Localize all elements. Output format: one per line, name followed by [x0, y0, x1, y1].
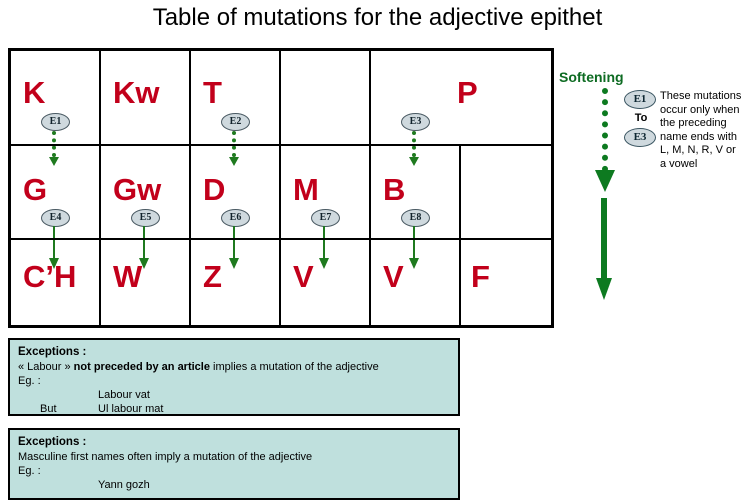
cell-letter: B — [383, 174, 405, 205]
table-row: C’H W Z V V F — [11, 238, 551, 325]
cell-letter: G — [23, 174, 47, 205]
table-cell[interactable]: F — [461, 240, 551, 325]
exception-eg-label: Eg. : — [18, 464, 450, 478]
table-cell[interactable]: B E8 — [371, 146, 461, 238]
table-cell[interactable]: C’H — [11, 240, 101, 325]
mutation-table: K E1 Kw T E2 P E3 G E4 Gw E5 — [8, 48, 554, 328]
mutation-tag-e6: E6 — [221, 209, 250, 227]
legend-tag-from: E1 — [624, 90, 656, 109]
cell-letter: W — [113, 261, 142, 292]
legend-line: L, M, N, R, V or — [660, 144, 755, 158]
exception-rule: Masculine first names often imply a muta… — [18, 450, 450, 464]
legend-line: the preceding — [660, 117, 755, 131]
exception-example-value: Labour vat — [98, 388, 150, 402]
exception-heading: Exceptions : — [18, 435, 450, 449]
exception-box: Exceptions : « Labour » not preceded by … — [8, 338, 460, 416]
cell-letter: F — [471, 261, 490, 292]
exception-heading: Exceptions : — [18, 345, 450, 359]
table-cell[interactable]: M E7 — [281, 146, 371, 238]
mutation-tag-e1: E1 — [41, 113, 70, 131]
exception-eg-label: Eg. : — [18, 374, 450, 388]
table-cell[interactable]: Kw — [101, 51, 191, 144]
table-cell[interactable]: Z — [191, 240, 281, 325]
cell-letter: D — [203, 174, 225, 205]
legend-connector: To — [624, 112, 658, 125]
softening-label: Softening — [559, 69, 624, 85]
cell-letter: M — [293, 174, 319, 205]
softening-solid-arrow-icon — [601, 198, 611, 302]
legend-line: a vowel — [660, 158, 755, 172]
cell-letter: Gw — [113, 174, 161, 205]
cell-letter: K — [23, 77, 45, 108]
cell-letter: P — [457, 77, 478, 108]
table-row: G E4 Gw E5 D E6 M E7 B E8 — [11, 144, 551, 238]
exception-example-value: Ul labour mat — [98, 402, 163, 416]
legend-line: name ends with — [660, 131, 755, 145]
exception-example-label — [18, 478, 98, 492]
legend-line: These mutations — [660, 90, 755, 104]
table-cell[interactable]: Gw E5 — [101, 146, 191, 238]
exception-example: Yann gozh — [18, 478, 450, 492]
mutation-tag-e8: E8 — [401, 209, 430, 227]
cell-letter: V — [383, 261, 404, 292]
exception-box: Exceptions : Masculine first names often… — [8, 428, 460, 500]
cell-letter: T — [203, 77, 222, 108]
cell-letter: Kw — [113, 77, 160, 108]
exception-rule-bold: not preceded by an article — [74, 361, 210, 373]
table-cell[interactable]: G E4 — [11, 146, 101, 238]
exception-example-label — [18, 388, 98, 402]
cell-letter: V — [293, 261, 314, 292]
cell-letter: Z — [203, 261, 222, 292]
table-row: K E1 Kw T E2 P E3 — [11, 51, 551, 144]
mutation-tag-e4: E4 — [41, 209, 70, 227]
table-cell[interactable]: W — [101, 240, 191, 325]
table-cell[interactable] — [461, 146, 551, 238]
exception-example: But Ul labour mat — [18, 402, 450, 416]
exception-example-label: But — [18, 402, 98, 416]
softening-dotted-arrow-icon — [602, 88, 610, 194]
table-cell[interactable] — [281, 51, 371, 144]
exception-example: Labour vat — [18, 388, 450, 402]
page-title: Table of mutations for the adjective epi… — [0, 4, 755, 32]
table-cell[interactable]: P E3 — [371, 51, 551, 144]
legend-tag-to: E3 — [624, 128, 656, 147]
exception-rule-pre: Masculine first names often imply a muta… — [18, 451, 312, 463]
legend-line: occur only when — [660, 104, 755, 118]
mutation-tag-e7: E7 — [311, 209, 340, 227]
table-cell[interactable]: V — [371, 240, 461, 325]
mutation-tag-e2: E2 — [221, 113, 250, 131]
legend-keys: E1 To E3 — [624, 90, 658, 150]
table-cell[interactable]: K E1 — [11, 51, 101, 144]
exception-rule-post: implies a mutation of the adjective — [210, 361, 379, 373]
table-cell[interactable]: T E2 — [191, 51, 281, 144]
table-cell[interactable]: V — [281, 240, 371, 325]
exception-rule-pre: « Labour » — [18, 361, 74, 373]
mutation-tag-e3: E3 — [401, 113, 430, 131]
exception-example-value: Yann gozh — [98, 478, 150, 492]
legend-text: These mutations occur only when the prec… — [660, 90, 755, 171]
mutation-tag-e5: E5 — [131, 209, 160, 227]
exception-rule: « Labour » not preceded by an article im… — [18, 360, 450, 374]
cell-letter: C’H — [23, 261, 76, 292]
table-cell[interactable]: D E6 — [191, 146, 281, 238]
